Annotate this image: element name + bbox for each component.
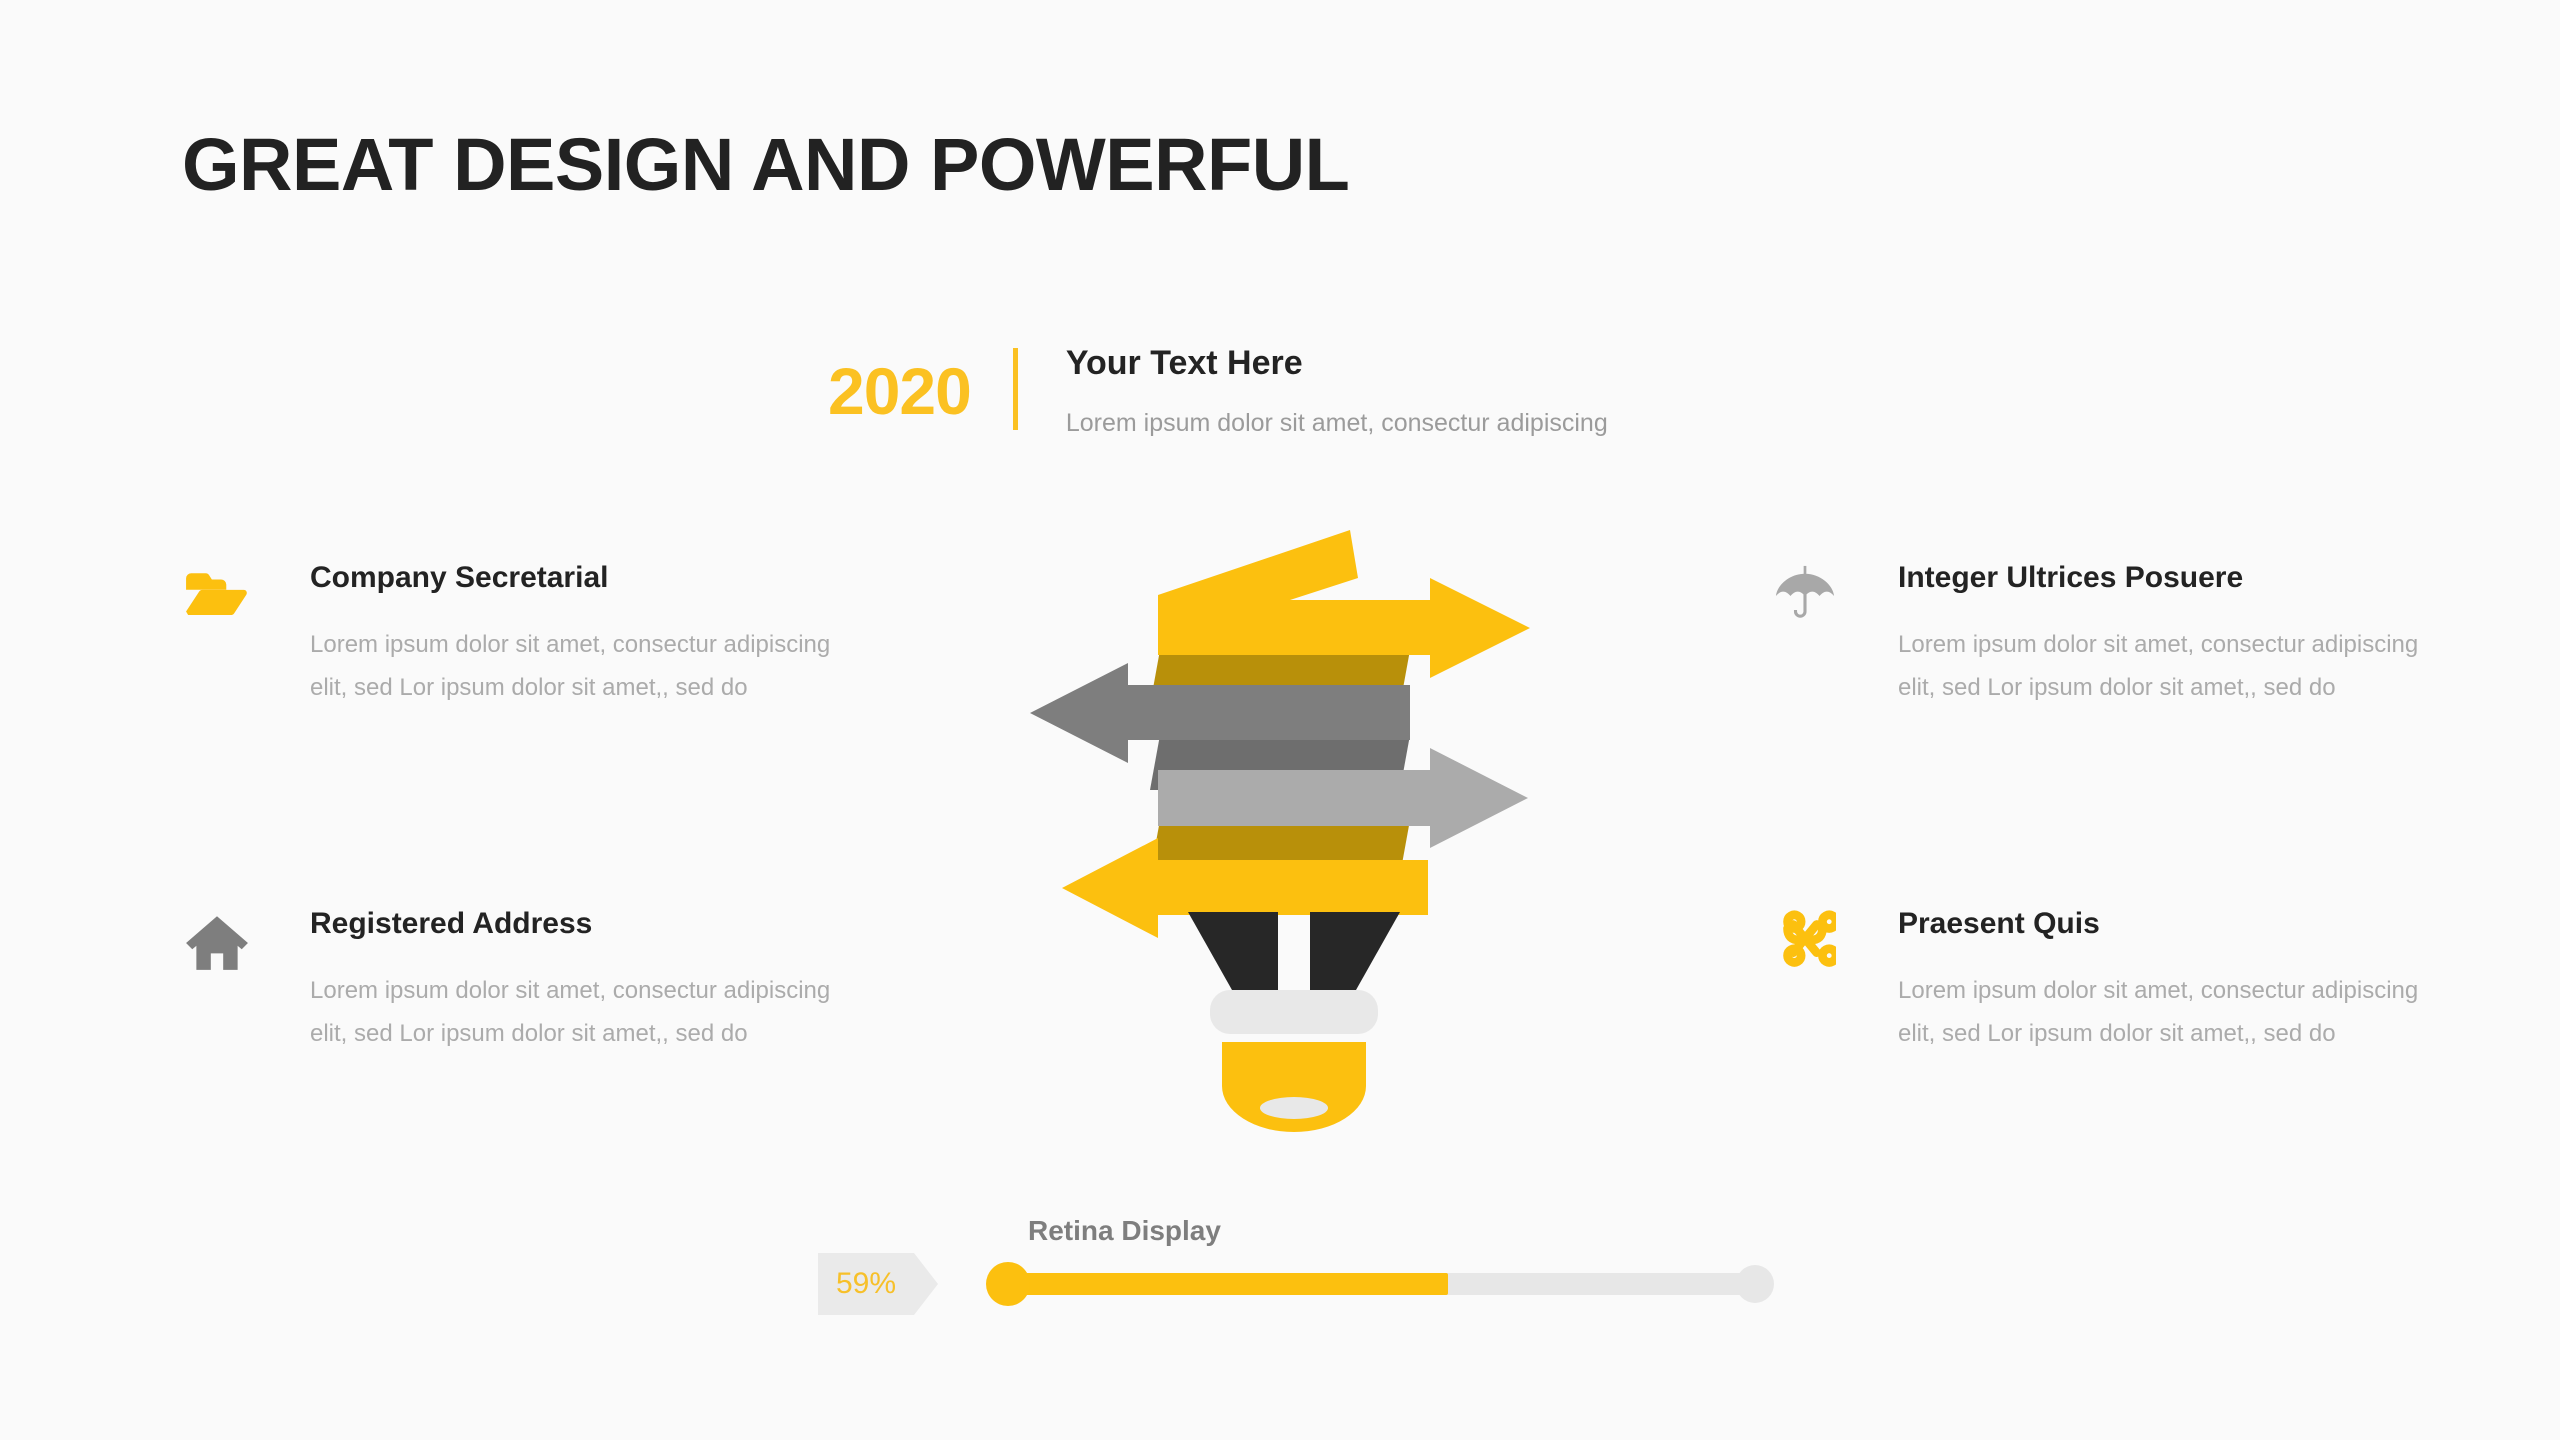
umbrella-icon — [1768, 560, 1842, 638]
progress-slider[interactable]: 59% Retina Display — [818, 1215, 1758, 1325]
intro-subtitle: Lorem ipsum dolor sit amet, consectur ad… — [1066, 407, 1608, 440]
intro-divider — [1013, 348, 1018, 430]
intro-block: 2020 Your Text Here Lorem ipsum dolor si… — [828, 340, 1608, 439]
feature-description: Lorem ipsum dolor sit amet, consectur ad… — [310, 970, 840, 1055]
feature-block-praesent-quis: Praesent Quis Lorem ipsum dolor sit amet… — [1768, 906, 2428, 1055]
feature-body: Integer Ultrices Posuere Lorem ipsum dol… — [1898, 560, 2428, 709]
feature-title: Registered Address — [310, 906, 840, 942]
intro-heading: Your Text Here — [1066, 342, 1608, 385]
progress-title-label: Retina Display — [1028, 1215, 1221, 1247]
joomla-knot-icon — [1768, 906, 1842, 984]
feature-body: Company Secretarial Lorem ipsum dolor si… — [310, 560, 840, 709]
lightbulb-arrows-icon — [1010, 520, 1550, 1140]
progress-value-label: 59% — [836, 1267, 896, 1301]
feature-description: Lorem ipsum dolor sit amet, consectur ad… — [1898, 970, 2428, 1055]
home-icon — [180, 906, 254, 984]
intro-text-group: Your Text Here Lorem ipsum dolor sit ame… — [1066, 340, 1608, 439]
feature-body: Registered Address Lorem ipsum dolor sit… — [310, 906, 840, 1055]
feature-title: Praesent Quis — [1898, 906, 2428, 942]
folder-icon — [180, 560, 254, 638]
feature-title: Integer Ultrices Posuere — [1898, 560, 2428, 596]
progress-start-knob[interactable] — [986, 1262, 1030, 1306]
progress-track[interactable] — [1002, 1273, 1758, 1295]
feature-title: Company Secretarial — [310, 560, 840, 596]
feature-body: Praesent Quis Lorem ipsum dolor sit amet… — [1898, 906, 2428, 1055]
feature-block-company-secretarial: Company Secretarial Lorem ipsum dolor si… — [180, 560, 840, 709]
feature-description: Lorem ipsum dolor sit amet, consectur ad… — [1898, 624, 2428, 709]
feature-description: Lorem ipsum dolor sit amet, consectur ad… — [310, 624, 840, 709]
feature-block-registered-address: Registered Address Lorem ipsum dolor sit… — [180, 906, 840, 1055]
progress-value-tag: 59% — [818, 1253, 938, 1315]
progress-end-knob[interactable] — [1736, 1265, 1774, 1303]
feature-block-integer-ultrices-posuere: Integer Ultrices Posuere Lorem ipsum dol… — [1768, 560, 2428, 709]
slide-canvas: GREAT DESIGN AND POWERFUL 2020 Your Text… — [0, 0, 2560, 1440]
progress-fill — [1002, 1273, 1448, 1295]
page-title: GREAT DESIGN AND POWERFUL — [182, 122, 1349, 207]
intro-year: 2020 — [828, 340, 971, 424]
